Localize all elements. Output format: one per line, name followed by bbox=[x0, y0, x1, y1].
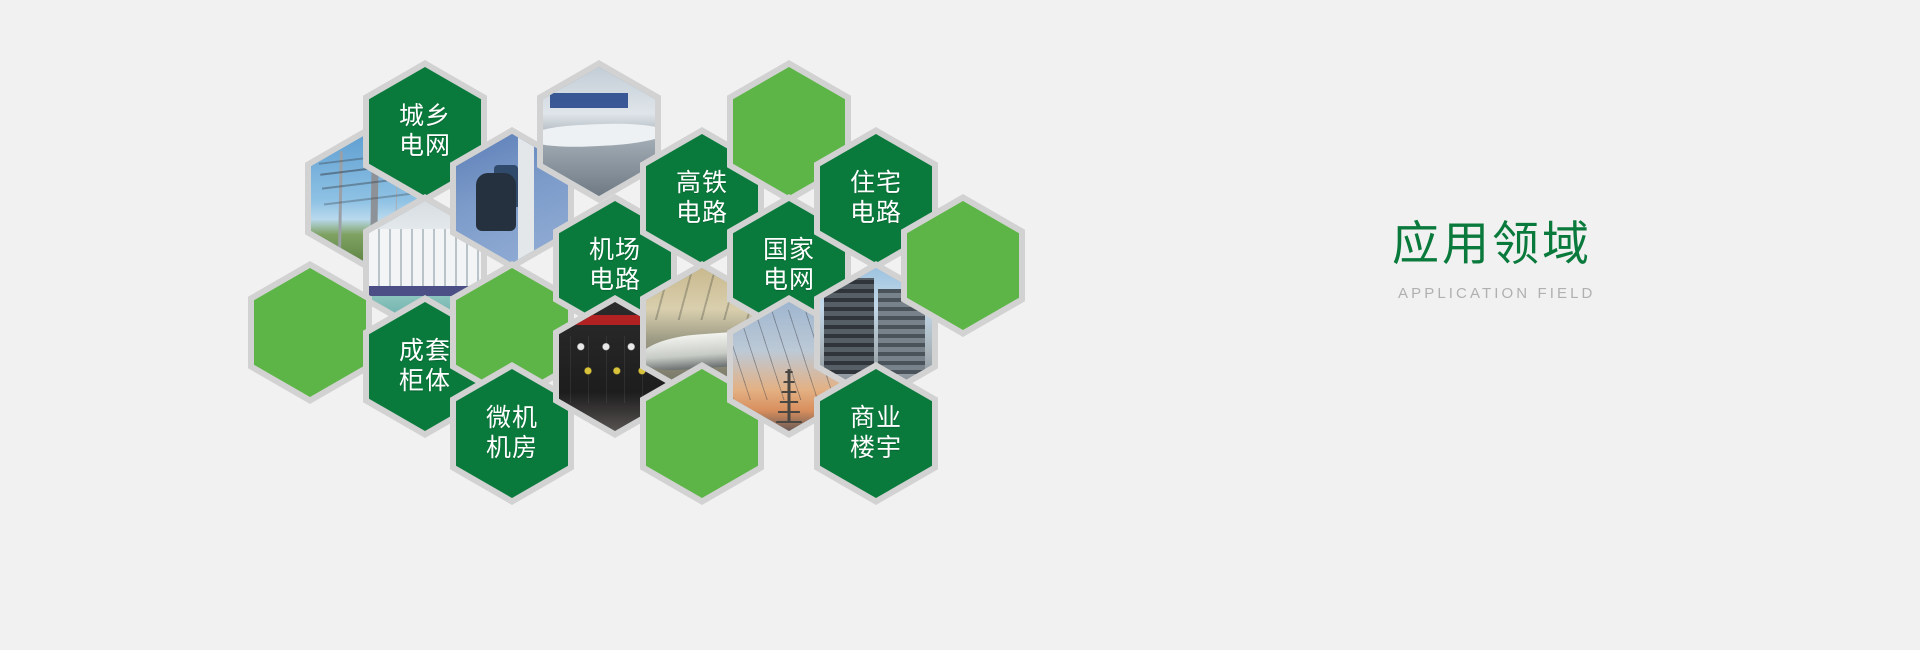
hex-label: 商业 楼宇 bbox=[850, 404, 902, 463]
hex-label: 高铁 电路 bbox=[676, 169, 728, 228]
hex-label: 住宅 电路 bbox=[850, 169, 902, 228]
hex-label: 国家 电网 bbox=[763, 236, 815, 295]
hex-label: 机场 电路 bbox=[589, 236, 641, 295]
hexagon-comb: 城乡 电网成套 柜体机场 电路微机 机房高铁 电路国家 电网住宅 电路商业 楼宇 bbox=[0, 0, 1920, 650]
hex-label: 微机 机房 bbox=[486, 404, 538, 463]
hex-label: 成套 柜体 bbox=[399, 337, 451, 396]
page-subtitle: APPLICATION FIELD bbox=[1398, 285, 1822, 302]
hex-filler-left-mid bbox=[248, 261, 372, 404]
hex-filler-far-right bbox=[901, 194, 1025, 337]
hex-label: 城乡 电网 bbox=[399, 102, 451, 161]
heading-block: 应用领域 APPLICATION FIELD bbox=[1392, 218, 1822, 302]
page-title: 应用领域 bbox=[1392, 218, 1822, 271]
application-field-banner: 城乡 电网成套 柜体机场 电路微机 机房高铁 电路国家 电网住宅 电路商业 楼宇… bbox=[0, 0, 1920, 650]
hex-commercial-building[interactable]: 商业 楼宇 bbox=[814, 362, 938, 505]
